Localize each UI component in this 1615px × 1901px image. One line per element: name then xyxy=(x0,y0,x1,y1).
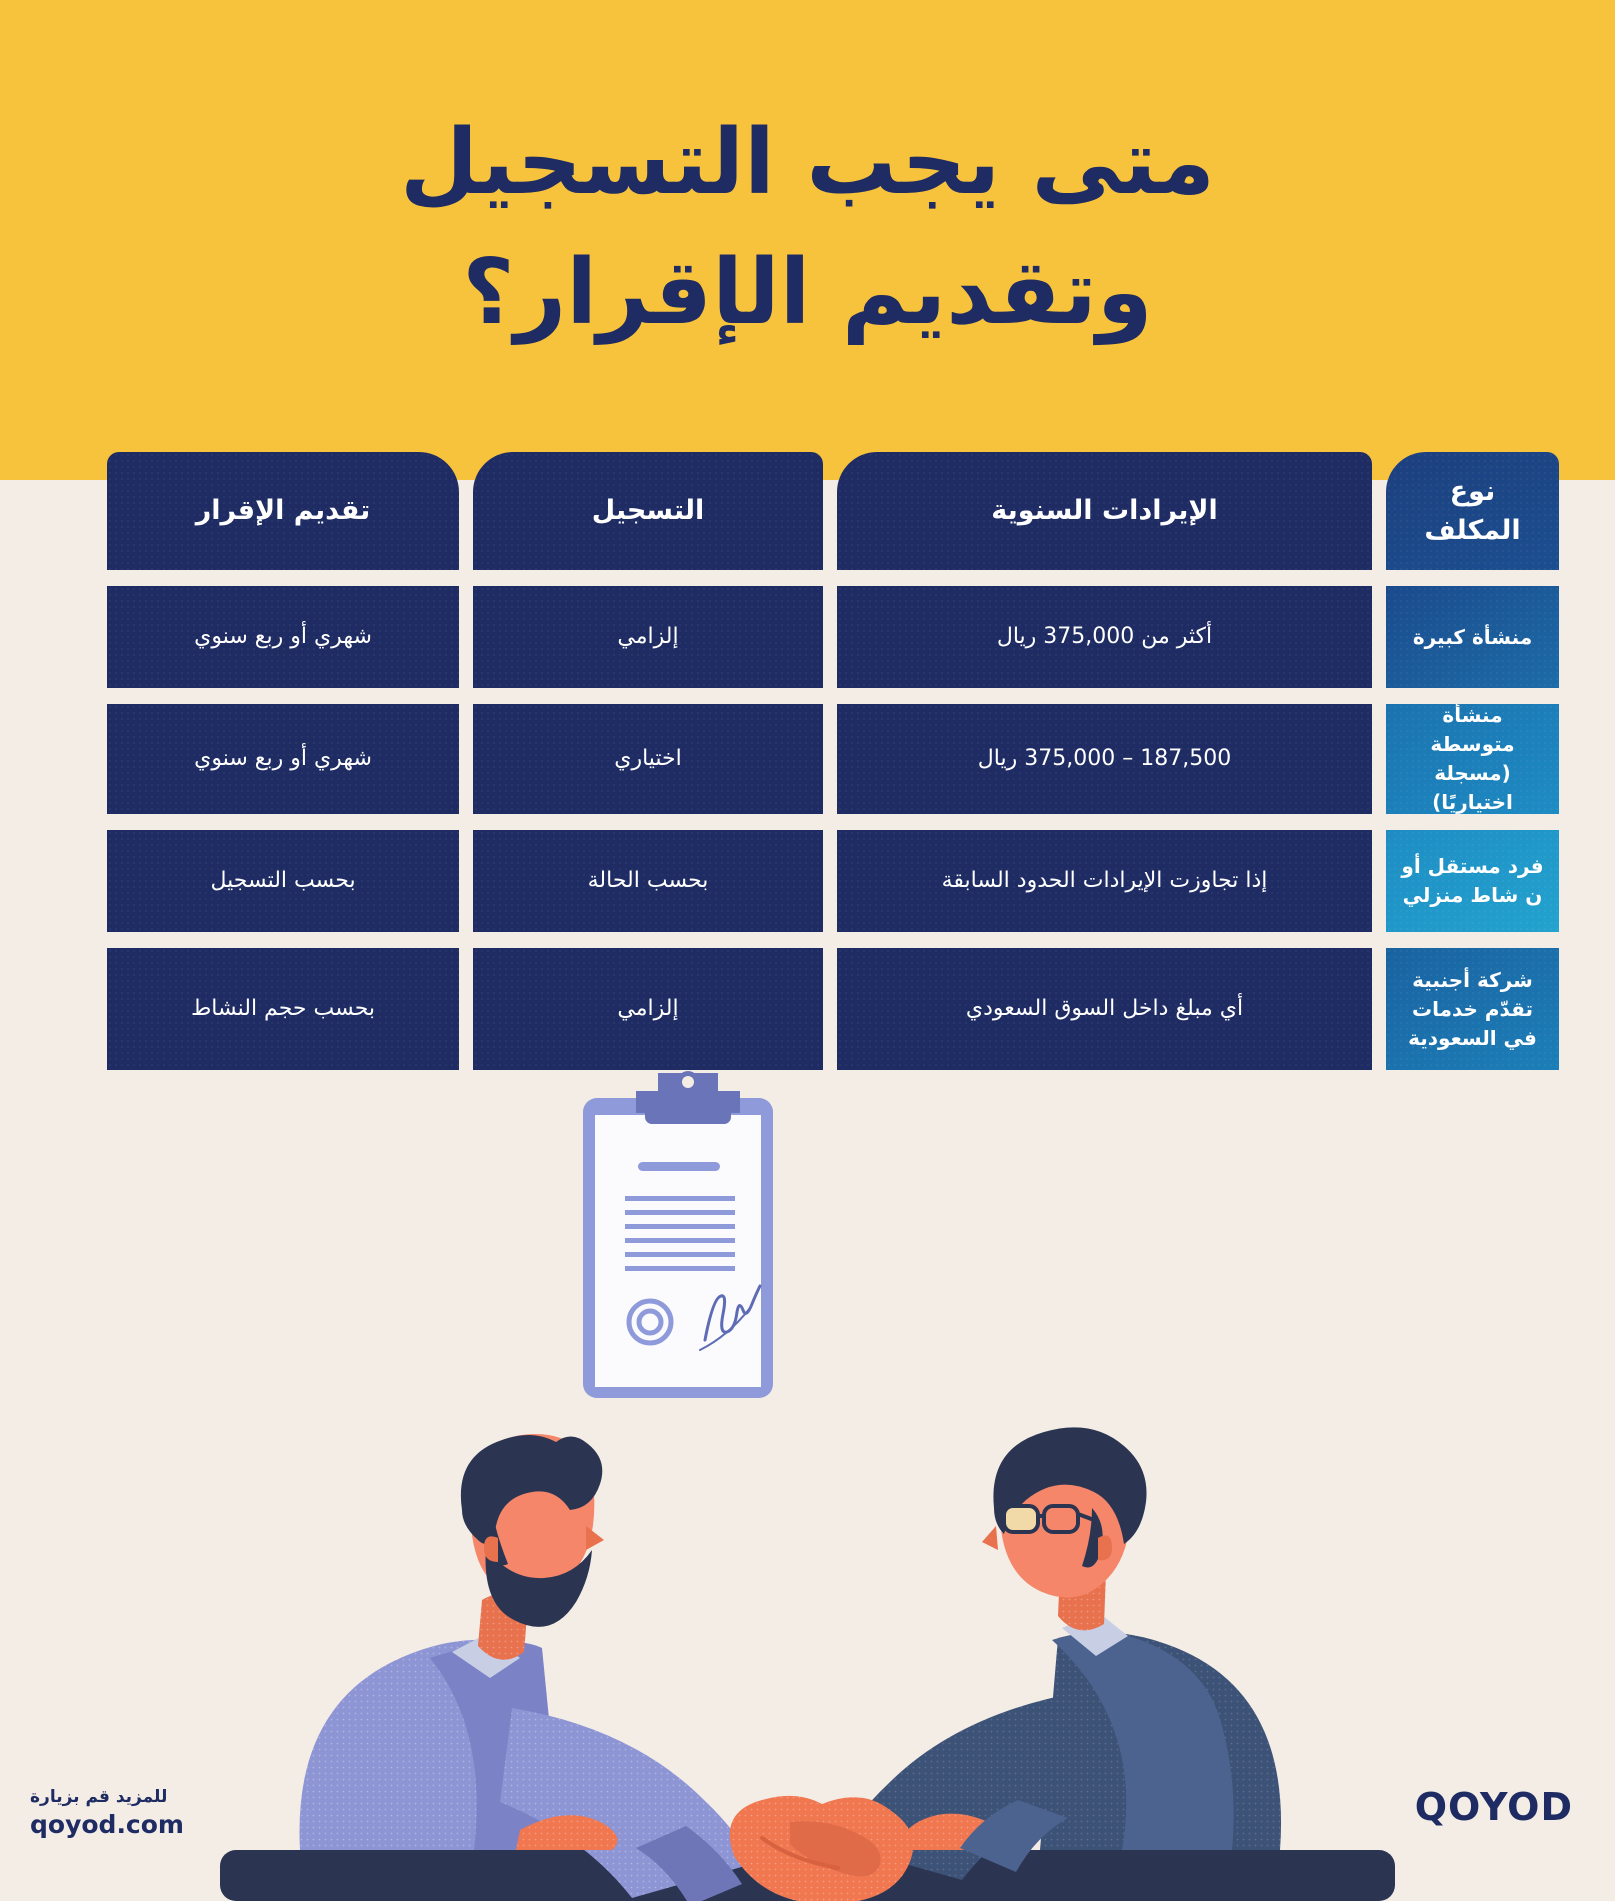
page-title-line-1: متى يجب التسجيل xyxy=(400,98,1215,229)
table-row: منشأة متوسطة (مسجلة اختياريًا) 187,500 –… xyxy=(56,704,1559,814)
footer-website-url[interactable]: qoyod.com xyxy=(30,1810,184,1839)
table-header-row: نوع المكلف الإيرادات السنوية التسجيل تقد… xyxy=(56,452,1559,570)
comparison-table: نوع المكلف الإيرادات السنوية التسجيل تقد… xyxy=(56,452,1559,1070)
cell-filing: شهري أو ربع سنوي xyxy=(107,586,459,688)
cell-annual-revenue: 187,500 – 375,000 ريال xyxy=(837,704,1372,814)
header-banner: متى يجب التسجيل وتقديم الإقرار؟ xyxy=(0,0,1615,480)
page-title: متى يجب التسجيل وتقديم الإقرار؟ xyxy=(400,98,1215,359)
column-header-registration: التسجيل xyxy=(473,452,823,570)
cell-taxpayer-type: منشأة متوسطة (مسجلة اختياريًا) xyxy=(1386,704,1559,814)
cell-annual-revenue: إذا تجاوزت الإيرادات الحدود السابقة xyxy=(837,830,1372,932)
footer-visit-note: للمزيد قم بزيارة qoyod.com xyxy=(30,1787,184,1839)
cell-taxpayer-type: فرد مستقل أو ن شاط منزلي xyxy=(1386,830,1559,932)
column-header-taxpayer-type: نوع المكلف xyxy=(1386,452,1559,570)
column-header-filing: تقديم الإقرار xyxy=(107,452,459,570)
footer-more-label: للمزيد قم بزيارة xyxy=(30,1787,184,1807)
cell-registration: إلزامي xyxy=(473,586,823,688)
cell-annual-revenue: أكثر من 375,000 ريال xyxy=(837,586,1372,688)
cell-filing: شهري أو ربع سنوي xyxy=(107,704,459,814)
cell-registration: بحسب الحالة xyxy=(473,830,823,932)
qoyod-logo: QOYOD xyxy=(1415,1785,1573,1829)
handshake-illustration xyxy=(0,1040,1615,1901)
left-person xyxy=(299,1434,752,1901)
page-title-line-2: وتقديم الإقرار؟ xyxy=(400,228,1215,359)
column-header-annual-revenue: الإيرادات السنوية xyxy=(837,452,1372,570)
cell-filing: بحسب التسجيل xyxy=(107,830,459,932)
table-row: فرد مستقل أو ن شاط منزلي إذا تجاوزت الإي… xyxy=(56,830,1559,932)
clipboard-icon xyxy=(583,1071,773,1398)
table-row: منشأة كبيرة أكثر من 375,000 ريال إلزامي … xyxy=(56,586,1559,688)
cell-taxpayer-type: منشأة كبيرة xyxy=(1386,586,1559,688)
right-person xyxy=(842,1427,1281,1880)
cell-taxpayer-type: شركة أجنبية تقدّم خدمات في السعودية xyxy=(1386,948,1559,1070)
cell-registration: اختياري xyxy=(473,704,823,814)
